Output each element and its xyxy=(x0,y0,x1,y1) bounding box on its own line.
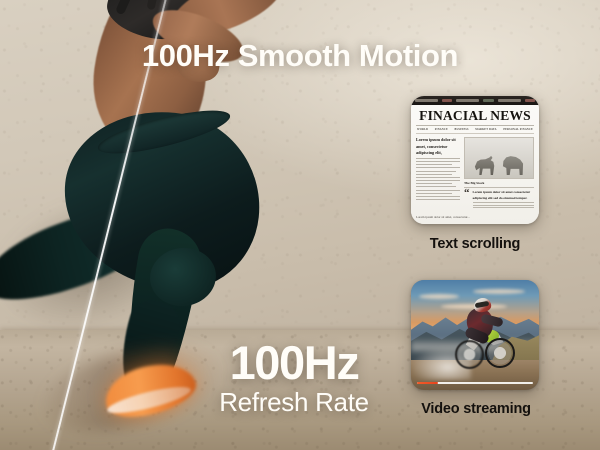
newspaper-nav: WORLD FINANCE BUSINESS MARKET DATA PERSO… xyxy=(416,126,534,134)
card-label-text-scrolling: Text scrolling xyxy=(411,236,539,252)
nav-item[interactable]: PERSONAL FINANCE xyxy=(503,128,533,131)
refresh-rate-value: 100Hz xyxy=(196,340,392,385)
footer-text: Lorem ipsum dolor sit amet, consectetur.… xyxy=(416,215,534,219)
bike-wheel xyxy=(455,340,484,369)
bull-icon xyxy=(474,155,496,175)
nav-item[interactable]: MARKET DATA xyxy=(475,128,496,131)
topbar-item xyxy=(415,99,438,102)
refresh-rate-block: 100Hz Refresh Rate xyxy=(196,340,392,418)
newspaper-left-column: Lorem ipsum dolor sit amet, consectetur … xyxy=(416,137,460,208)
article-text-lines xyxy=(416,158,460,200)
nav-item[interactable]: WORLD xyxy=(417,128,428,131)
cloud xyxy=(419,294,459,299)
photo-caption: The Big Stock xyxy=(464,181,534,185)
quote-mark-icon: “ xyxy=(464,190,470,198)
card-video-streaming[interactable] xyxy=(411,280,539,390)
video-progress-fill xyxy=(417,382,438,384)
product-feature-banner: 100Hz Smooth Motion 100Hz Refresh Rate F… xyxy=(0,0,600,450)
newspaper-masthead: FINACIAL NEWS xyxy=(416,108,534,126)
newspaper-right-column: The Big Stock “ Lorem ipsum dolor sit am… xyxy=(464,137,534,208)
quote-text-lines xyxy=(473,202,535,208)
nav-item[interactable]: FINANCE xyxy=(435,128,448,131)
card-text-scrolling[interactable]: FINACIAL NEWS WORLD FINANCE BUSINESS MAR… xyxy=(411,96,539,224)
motocross-rider xyxy=(457,298,515,370)
page-title: 100Hz Smooth Motion xyxy=(0,38,600,74)
topbar-item xyxy=(483,99,493,102)
quote-text: Lorem ipsum dolor sit amet consectetur a… xyxy=(473,190,535,200)
cloud xyxy=(473,289,525,294)
article-lede: Lorem ipsum dolor sit amet, consectetur … xyxy=(416,137,460,155)
video-progress-bar[interactable] xyxy=(417,382,533,384)
topbar-item xyxy=(456,99,479,102)
bike-wheel xyxy=(485,338,515,368)
bull-bear-illustration xyxy=(464,137,534,179)
card-label-video-streaming: Video streaming xyxy=(406,401,546,417)
newspaper-footer: Lorem ipsum dolor sit amet, consectetur.… xyxy=(416,215,534,219)
topbar-item xyxy=(498,99,521,102)
topbar-item xyxy=(525,99,535,102)
newspaper-body: Lorem ipsum dolor sit amet, consectetur … xyxy=(416,134,534,208)
bear-icon xyxy=(501,153,525,175)
newspaper-topbar xyxy=(411,96,539,105)
nav-item[interactable]: BUSINESS xyxy=(455,128,469,131)
refresh-rate-label: Refresh Rate xyxy=(196,387,392,418)
pull-quote-body: Lorem ipsum dolor sit amet consectetur a… xyxy=(473,190,535,208)
topbar-item xyxy=(442,99,452,102)
pull-quote: “ Lorem ipsum dolor sit amet consectetur… xyxy=(464,190,534,208)
newspaper-sheet: FINACIAL NEWS WORLD FINANCE BUSINESS MAR… xyxy=(411,105,539,224)
divider xyxy=(464,187,534,188)
